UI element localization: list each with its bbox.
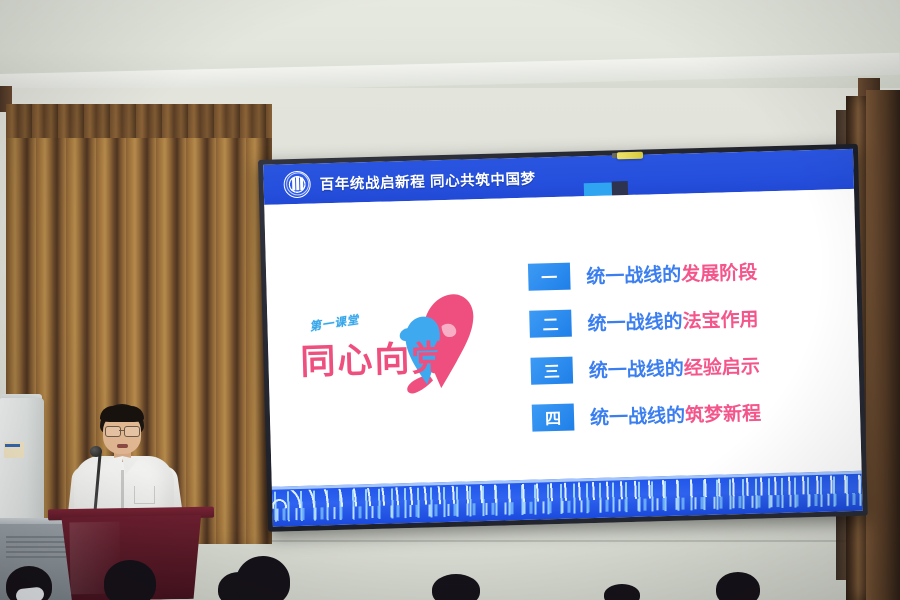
audience-head xyxy=(716,572,760,600)
agenda-item-prefix: 统一战线的 xyxy=(589,357,685,382)
wall-cabinet xyxy=(0,398,44,526)
agenda-item-prefix: 统一战线的 xyxy=(587,310,683,335)
glasses-bridge xyxy=(119,430,124,431)
agenda-item-text: 统一战线的法宝作用 xyxy=(587,304,759,336)
audience-head xyxy=(236,556,290,600)
agenda-item-highlight: 筑梦新程 xyxy=(685,402,762,426)
speaker-hair-front xyxy=(100,406,144,422)
header-accent-chip xyxy=(584,182,612,196)
speaker-shirt-pocket xyxy=(134,486,155,504)
agenda-list: 一 统一战线的发展阶段 二 统一战线的法宝作用 三 xyxy=(528,251,843,447)
projection-screen: 百年统战启新程 同心共筑中国梦 第一课堂 xyxy=(258,144,868,532)
slide-body: 第一课堂 同心向党 一 统一战线的发展阶段 二 xyxy=(264,189,861,487)
agenda-item: 二 统一战线的法宝作用 xyxy=(529,298,840,340)
slide-canvas: 百年统战启新程 同心共筑中国梦 第一课堂 xyxy=(263,149,863,527)
glasses-icon xyxy=(124,426,140,437)
agenda-number-badge: 三 xyxy=(530,356,573,384)
speaker-figure xyxy=(62,404,202,524)
agenda-item-prefix: 统一战线的 xyxy=(590,404,686,429)
university-seal-icon xyxy=(283,170,311,198)
speaker-mouth xyxy=(117,444,128,448)
agenda-item-highlight: 发展阶段 xyxy=(681,261,758,285)
equipment-vent xyxy=(6,536,66,558)
tongxin-xiangdang-logo: 第一课堂 同心向党 xyxy=(294,271,487,404)
presentation-photo-scene: 百年统战启新程 同心共筑中国梦 第一课堂 xyxy=(0,0,900,600)
agenda-item-highlight: 法宝作用 xyxy=(682,308,759,332)
agenda-item-text: 统一战线的发展阶段 xyxy=(586,257,758,289)
curtain-right-edge xyxy=(866,90,900,600)
whiteboard-marker-icon xyxy=(617,152,643,160)
glasses-icon xyxy=(105,426,121,437)
microphone-head-icon xyxy=(90,446,102,457)
audience-head xyxy=(604,584,640,600)
logo-main-text: 同心向党 xyxy=(300,330,449,385)
agenda-number-badge: 二 xyxy=(529,309,572,337)
agenda-number-badge: 四 xyxy=(532,403,575,431)
face-mask-icon xyxy=(15,587,44,600)
cabinet-label-bar xyxy=(5,444,20,447)
logo-script-text: 第一课堂 xyxy=(309,311,361,334)
screen-bezel: 百年统战启新程 同心共筑中国梦 第一课堂 xyxy=(258,144,868,532)
curtain-left-header xyxy=(6,104,272,138)
agenda-item-prefix: 统一战线的 xyxy=(586,263,682,288)
wall-seam-line xyxy=(250,540,900,542)
agenda-item-highlight: 经验启示 xyxy=(684,355,761,379)
agenda-item: 四 统一战线的筑梦新程 xyxy=(532,392,843,434)
agenda-item: 一 统一战线的发展阶段 xyxy=(528,251,839,293)
audience-head xyxy=(104,560,156,600)
agenda-item: 三 统一战线的经验启示 xyxy=(530,345,841,387)
agenda-item-text: 统一战线的筑梦新程 xyxy=(590,398,762,430)
agenda-number-badge: 一 xyxy=(528,262,571,290)
slide-header-title: 百年统战启新程 同心共筑中国梦 xyxy=(319,167,536,194)
agenda-item-text: 统一战线的经验启示 xyxy=(588,351,760,383)
audience-head xyxy=(432,574,480,600)
